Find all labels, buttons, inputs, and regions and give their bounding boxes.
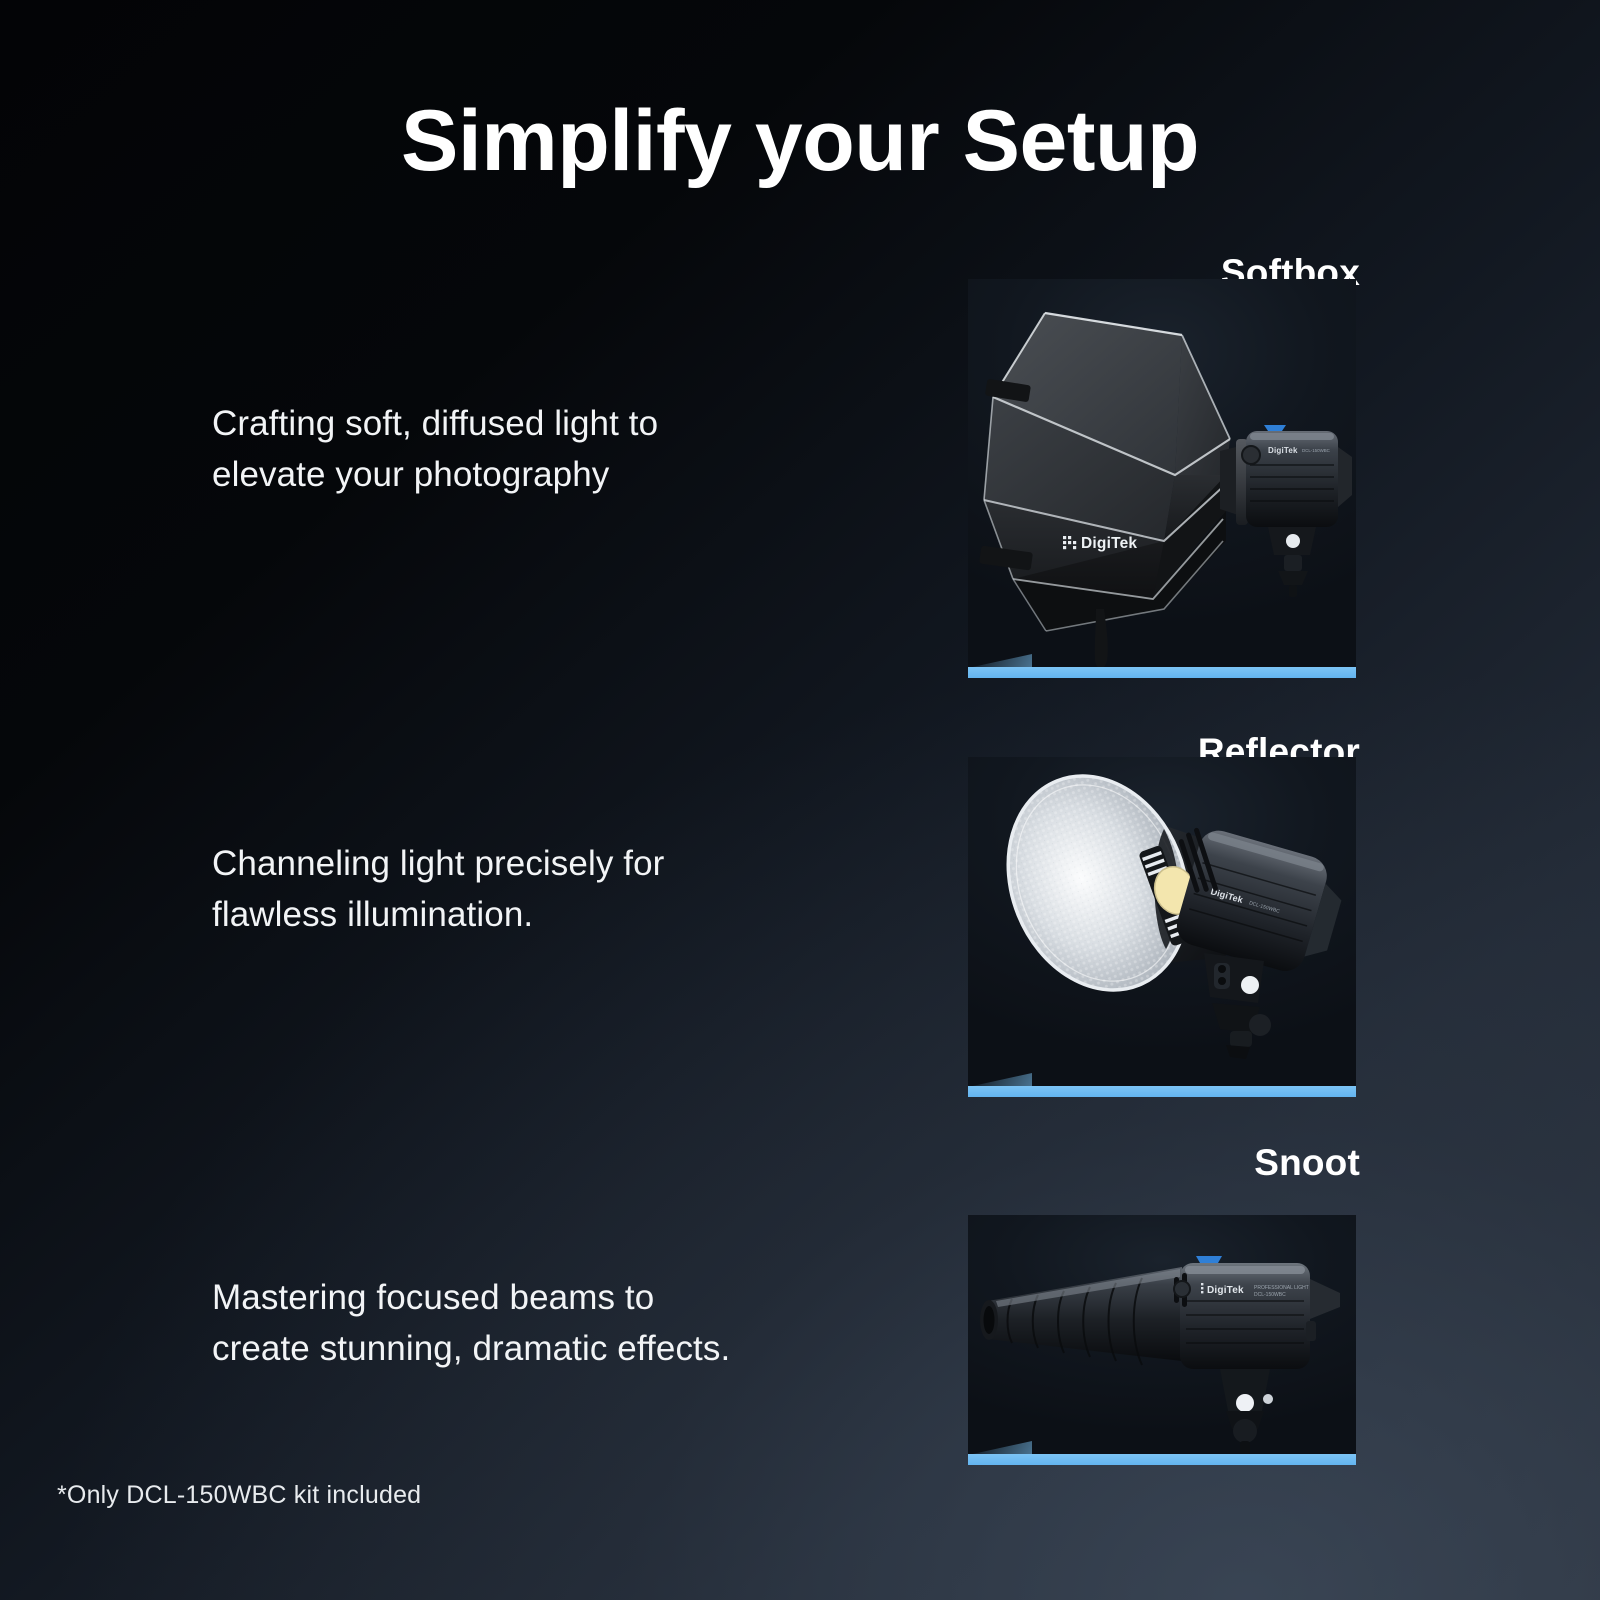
feature-text-line: Mastering focused beams to [212,1272,912,1323]
product-image-reflector: DigiTek DCL-150WBC [968,757,1356,1097]
footnote-disclaimer: *Only DCL-150WBC kit included [57,1481,421,1510]
feature-text-line: Crafting soft, diffused light to [212,398,912,449]
svg-text:DigiTek: DigiTek [1207,1285,1244,1296]
product-image-softbox: DigiTek [968,279,1356,678]
snoot-cone [980,1267,1182,1365]
svg-text:DigiTek: DigiTek [1268,446,1298,455]
svg-text:DigiTek: DigiTek [1081,535,1137,552]
snoot-illustration: DigiTek PROFESSIONAL LIGHT DCL-150WBC [968,1215,1356,1465]
feature-text-line: flawless illumination. [212,889,912,940]
svg-text:PROFESSIONAL LIGHT: PROFESSIONAL LIGHT [1254,1285,1309,1291]
feature-text-line: create stunning, dramatic effects. [212,1323,912,1374]
softbox-illustration: DigiTek [968,279,1356,678]
feature-description-softbox: Crafting soft, diffused light to elevate… [212,398,912,500]
snoot-mount [1220,1369,1273,1455]
reflector-mount [1204,953,1271,1059]
softbox-light-head: DigiTek DCL-150WBC [1220,425,1352,597]
reflector-illustration: DigiTek DCL-150WBC [968,757,1356,1097]
softbox-stage: DigiTek [968,279,1356,678]
svg-text:DCL-150WBC: DCL-150WBC [1302,448,1330,453]
promo-page: Simplify your Setup Crafting soft, diffu… [0,0,1600,1600]
product-label-snoot: Snoot [760,1142,1360,1184]
feature-text-line: Channeling light precisely for [212,838,912,889]
svg-text:DCL-150WBC: DCL-150WBC [1254,1292,1286,1298]
feature-description-snoot: Mastering focused beams to create stunni… [212,1272,912,1374]
product-image-snoot: DigiTek PROFESSIONAL LIGHT DCL-150WBC [968,1215,1356,1465]
snoot-brand-logo: DigiTek [1201,1283,1244,1296]
snoot-light-head: DigiTek PROFESSIONAL LIGHT DCL-150WBC [1174,1256,1340,1369]
reflector-stage: DigiTek DCL-150WBC [968,757,1356,1097]
feature-description-reflector: Channeling light precisely for flawless … [212,838,912,940]
snoot-stage: DigiTek PROFESSIONAL LIGHT DCL-150WBC [968,1215,1356,1465]
page-title: Simplify your Setup [0,96,1600,186]
feature-text-line: elevate your photography [212,449,912,500]
